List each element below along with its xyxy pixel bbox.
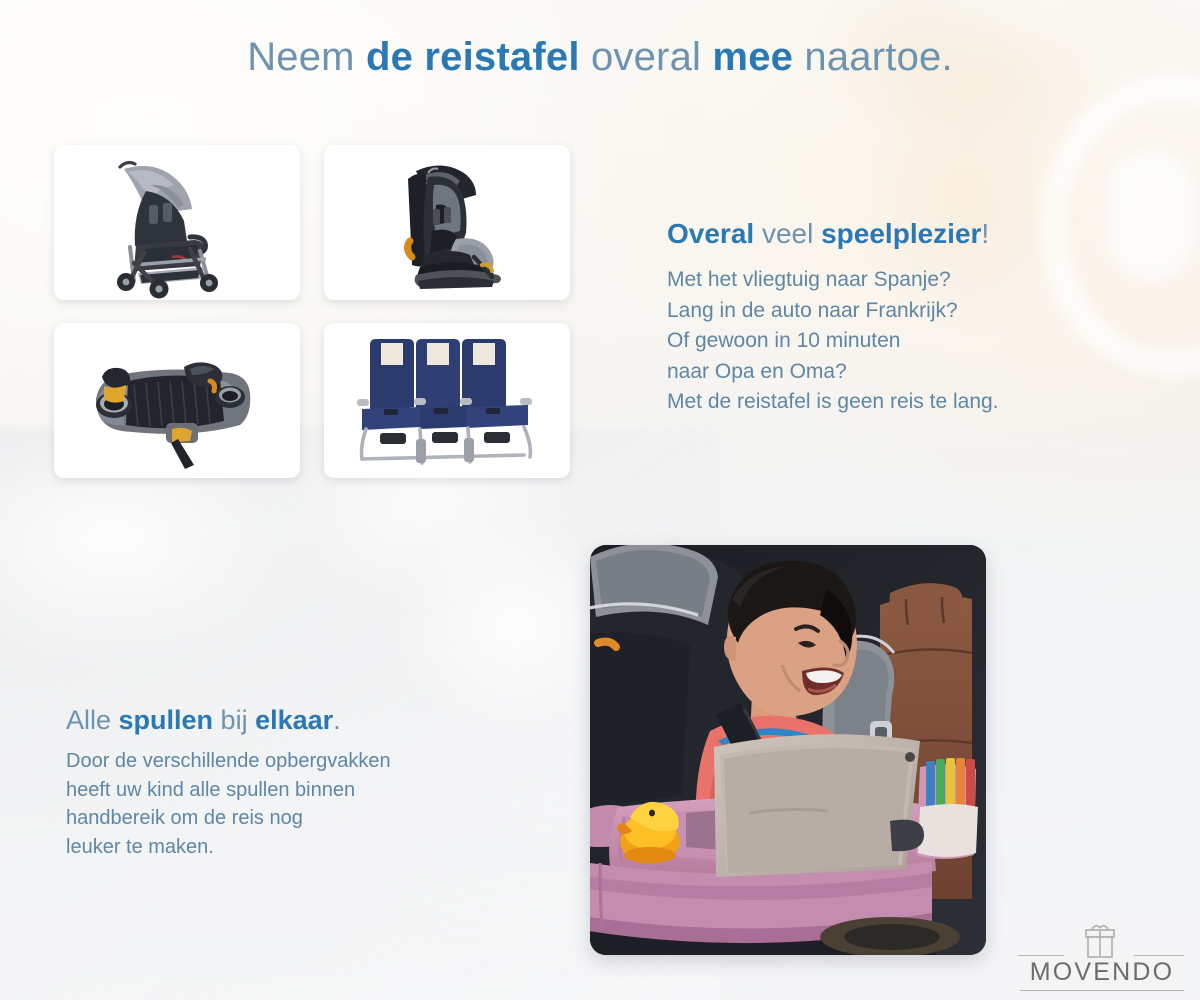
airplane-seats-card[interactable] <box>324 323 570 478</box>
booster-seat-card[interactable] <box>54 323 300 478</box>
left-text-block: Alle spullen bij elkaar. Door de verschi… <box>66 703 536 861</box>
headline-bold-2: mee <box>712 35 793 79</box>
right-body-line: Met de reistafel is geen reis te lang. <box>667 387 1127 418</box>
left-heading-mid: bij <box>213 705 255 735</box>
headline-bold-1: de reistafel <box>366 35 580 79</box>
promo-banner: Neem de reistafel overal mee naartoe. <box>0 0 1200 1000</box>
right-heading-mid: veel <box>754 218 821 249</box>
right-body-line: Met het vliegtuig naar Spanje? <box>667 265 1127 296</box>
headline-part-1: Neem <box>247 35 366 79</box>
gift-box-icon <box>1070 922 1130 958</box>
right-heading: Overal veel speelplezier! <box>667 216 1127 252</box>
left-heading: Alle spullen bij elkaar. <box>66 703 536 737</box>
hero-photo[interactable] <box>590 545 986 955</box>
car-seat-card[interactable] <box>324 145 570 300</box>
left-heading-plain-1: Alle <box>66 705 119 735</box>
stroller-card[interactable] <box>54 145 300 300</box>
left-body-line: heeft uw kind alle spullen binnen <box>66 776 536 805</box>
logo-rule-right <box>1134 955 1184 956</box>
logo-rule-left <box>1018 955 1064 956</box>
left-heading-bold-2: elkaar <box>255 705 333 735</box>
headline-part-3: naartoe. <box>793 35 953 79</box>
right-body-line: naar Opa en Oma? <box>667 357 1127 388</box>
right-body-line: Lang in de auto naar Frankrijk? <box>667 296 1127 327</box>
booster-seat-illustration <box>54 323 300 478</box>
hero-photo-illustration <box>590 545 986 955</box>
right-heading-tail: ! <box>981 218 989 249</box>
stroller-illustration <box>54 145 300 300</box>
left-body-line: leuker te maken. <box>66 833 536 862</box>
gift-box-glyph <box>1070 922 1130 958</box>
left-body-line: Door de verschillende opbergvakken <box>66 747 536 776</box>
headline-part-2: overal <box>580 35 713 79</box>
right-body-line: Of gewoon in 10 minuten <box>667 326 1127 357</box>
airplane-seats-illustration <box>324 323 570 478</box>
left-heading-tail: . <box>333 705 341 735</box>
page-title: Neem de reistafel overal mee naartoe. <box>0 33 1200 81</box>
left-heading-bold-1: spullen <box>119 705 214 735</box>
logo-wordmark: MOVENDO <box>1018 958 1186 987</box>
right-text-block: Overal veel speelplezier! Met het vliegt… <box>667 216 1127 418</box>
logo-rule-bottom <box>1020 990 1184 991</box>
car-seat-illustration <box>324 145 570 300</box>
right-heading-bold-2: speelplezier <box>821 218 981 249</box>
left-body-line: handbereik om de reis nog <box>66 804 536 833</box>
right-heading-bold-1: Overal <box>667 218 754 249</box>
product-card-grid <box>54 145 594 500</box>
brand-logo: MOVENDO <box>1018 922 1186 992</box>
